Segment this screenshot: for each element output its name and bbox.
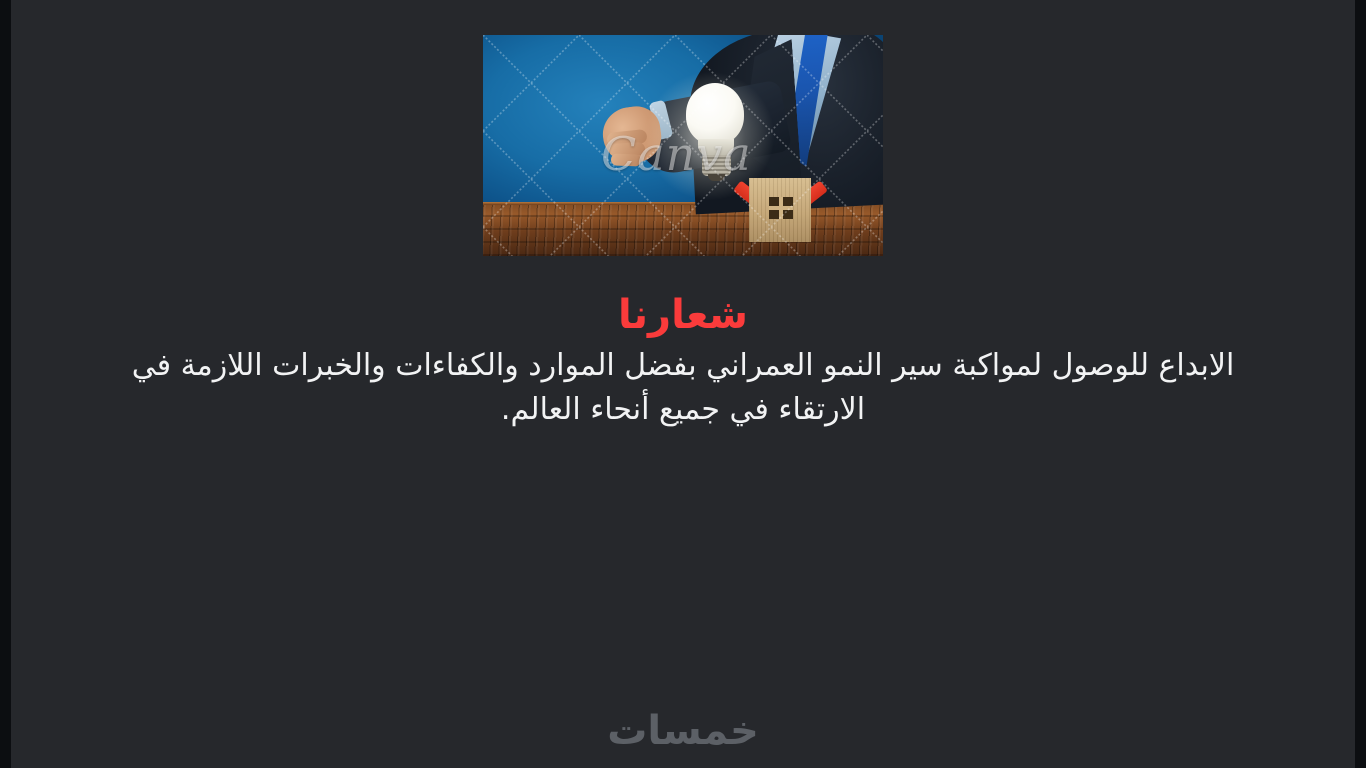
slide-page: Canva شعارنا الابداع للوصول لمواكبة سير … bbox=[11, 0, 1355, 768]
hero-image: Canva bbox=[483, 35, 883, 256]
left-edge-strip bbox=[0, 0, 11, 768]
finger bbox=[611, 153, 641, 166]
khamsat-logo: خمسات bbox=[607, 708, 759, 754]
lightbulb-icon bbox=[686, 83, 744, 145]
house-window bbox=[769, 197, 793, 219]
wooden-table bbox=[483, 202, 883, 256]
lightbulb-base bbox=[702, 155, 731, 176]
page-title: شعارنا bbox=[11, 290, 1355, 340]
hero-photo: Canva bbox=[483, 35, 883, 256]
footer-watermark: خمسات bbox=[11, 708, 1355, 754]
slogan-body-text: الابداع للوصول لمواكبة سير النمو العمران… bbox=[90, 344, 1276, 433]
slogan-section: شعارنا الابداع للوصول لمواكبة سير النمو … bbox=[11, 290, 1355, 433]
right-edge-strip bbox=[1355, 0, 1366, 768]
